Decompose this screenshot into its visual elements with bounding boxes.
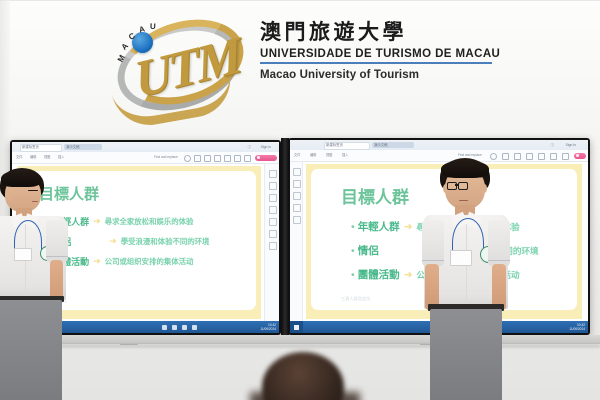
right-save-icon[interactable] xyxy=(562,153,569,160)
left-bullet-arrow-2: ➜ xyxy=(109,236,117,247)
right-slide-footer: 三頁人群及定位 xyxy=(341,296,370,302)
left-menu-file[interactable]: 文件 xyxy=(16,155,22,160)
right-menu-edit[interactable]: 编辑 xyxy=(310,153,316,158)
left-menu-view[interactable]: 视图 xyxy=(44,155,50,160)
right-bullet-arrow-3: ➜ xyxy=(404,269,413,281)
wall-seam xyxy=(0,0,600,1)
left-rail-shape-icon[interactable] xyxy=(269,194,277,202)
logo-arc-text: M A C A U xyxy=(114,14,202,70)
left-menu-insert[interactable]: 插入 xyxy=(58,155,64,160)
right-tab-2-label: 演示文稿 xyxy=(374,142,388,148)
presenter-right-trousers xyxy=(430,309,502,400)
presenter-left-fringe xyxy=(1,170,41,187)
presenter-left-sleeve-stripe xyxy=(46,256,68,257)
right-rail-text-icon[interactable] xyxy=(293,180,301,188)
right-tab-1-label: 新建标签页 xyxy=(326,142,343,148)
presenter-left-ear xyxy=(6,191,12,199)
left-rail-table-icon[interactable] xyxy=(269,218,277,226)
right-menu-view[interactable]: 视图 xyxy=(326,153,332,158)
right-slide-title: 目標人群 xyxy=(341,183,409,208)
left-bullet-arrow-1: ➜ xyxy=(93,216,101,227)
left-pen-icon[interactable] xyxy=(234,155,241,162)
left-bullet-desc-2: 學受浪漫和体验不同的环境 xyxy=(121,236,210,247)
presenter-left-brow xyxy=(28,190,38,191)
right-sign-in-label[interactable]: Sign in xyxy=(566,142,576,148)
right-rail-image-icon[interactable] xyxy=(293,204,301,212)
university-name-pt: UNIVERSIDADE DE TURISMO DE MACAU xyxy=(260,48,496,60)
university-name-en: Macao University of Tourism xyxy=(260,69,496,81)
branding-text-block: 澳門旅遊大學 UNIVERSIDADE DE TURISMO DE MACAU … xyxy=(260,20,496,81)
presenter-left-badge xyxy=(14,248,32,261)
right-share-button[interactable] xyxy=(574,153,586,160)
left-tray-network-icon[interactable] xyxy=(162,325,167,330)
right-menu-insert[interactable]: 插入 xyxy=(342,153,348,158)
university-name-zh: 澳門旅遊大學 xyxy=(260,20,496,45)
left-bullet-desc-3: 公司或组织安排的集体活动 xyxy=(105,256,194,267)
presenter-right-sleeve-stripe-l xyxy=(422,260,444,261)
right-rail-shape-icon[interactable] xyxy=(293,192,301,200)
right-bullet-term-1: 年輕人群 xyxy=(358,219,400,234)
right-bullet-term-3: 團體活動 xyxy=(358,267,400,282)
presenter-right-lens-left xyxy=(447,182,457,190)
left-clock-date: 11/06/2024 xyxy=(260,327,276,332)
right-present-icon[interactable] xyxy=(538,153,545,160)
left-rail-image-icon[interactable] xyxy=(269,206,277,214)
left-tray-volume-icon[interactable] xyxy=(172,325,177,330)
presenter-right xyxy=(416,158,528,400)
presenter-right-badge xyxy=(450,250,472,266)
left-rail-chart-icon[interactable] xyxy=(269,230,277,238)
right-bullet-arrow-1: ➜ xyxy=(404,221,413,233)
left-sign-in-label[interactable]: Sign in xyxy=(261,144,271,150)
right-bullet-term-2: 情侶 xyxy=(358,243,379,258)
presenter-right-glasses xyxy=(447,182,485,190)
left-find-replace-label[interactable]: Find and replace xyxy=(154,155,178,160)
presenter-right-fringe xyxy=(441,160,489,178)
left-rail-select-icon[interactable] xyxy=(269,170,277,178)
right-pen-icon[interactable] xyxy=(550,153,557,160)
left-comment-icon[interactable] xyxy=(214,155,221,162)
left-browser-toolbar[interactable]: 文件 编辑 视图 插入 Find and replace xyxy=(12,152,279,164)
left-redo-icon[interactable] xyxy=(204,155,211,162)
presenter-right-sleeve-stripe-r xyxy=(488,260,510,261)
right-info-icon[interactable]: ⓘ xyxy=(551,142,554,148)
left-bullet-arrow-3: ➜ xyxy=(93,256,101,267)
left-undo-icon[interactable] xyxy=(194,155,201,162)
classroom-scene: UTM M A C A U 澳門旅遊大學 UNIVERSIDADE DE TUR… xyxy=(0,0,600,400)
presenter-left xyxy=(0,168,76,400)
presenter-left-trousers xyxy=(0,300,62,400)
left-tab-1-label: 新建标签页 xyxy=(22,144,39,150)
left-info-icon[interactable]: ⓘ xyxy=(248,144,251,150)
right-bullet-dot-2: • xyxy=(351,245,355,257)
right-rail-select-icon[interactable] xyxy=(293,168,301,176)
right-taskbar-clock[interactable]: 10:42 11/06/2024 xyxy=(569,323,585,332)
left-save-icon[interactable] xyxy=(244,155,251,162)
left-bullet-desc-1: 尋求全家放松和娛乐的体验 xyxy=(105,216,194,227)
left-menu-edit[interactable]: 编辑 xyxy=(30,155,36,160)
university-branding: UTM M A C A U 澳門旅遊大學 UNIVERSIDADE DE TUR… xyxy=(108,6,488,118)
left-search-icon[interactable] xyxy=(184,155,191,162)
display-bezel-gap xyxy=(281,138,289,335)
left-tab-2-label: 演示文稿 xyxy=(66,144,80,150)
left-tray-battery-icon[interactable] xyxy=(182,325,187,330)
right-bullet-dot-1: • xyxy=(351,221,355,233)
left-rail-more-icon[interactable] xyxy=(269,242,277,250)
left-share-button[interactable] xyxy=(255,155,277,162)
left-present-icon[interactable] xyxy=(224,155,231,162)
right-clock-date: 11/06/2024 xyxy=(569,327,585,332)
right-start-button[interactable] xyxy=(290,321,303,333)
left-taskbar-clock[interactable]: 10:42 11/06/2024 xyxy=(260,323,276,332)
right-bullet-dot-3: • xyxy=(351,269,355,281)
branding-divider xyxy=(260,62,492,64)
left-rail-text-icon[interactable] xyxy=(269,182,277,190)
right-rail-table-icon[interactable] xyxy=(293,216,301,224)
presenter-right-lens-right xyxy=(458,182,468,190)
left-tool-rail[interactable] xyxy=(264,164,279,321)
utm-macau-logo: UTM M A C A U xyxy=(108,8,248,120)
left-tray-ime-icon[interactable] xyxy=(192,325,197,330)
right-menu-file[interactable]: 文件 xyxy=(294,153,300,158)
right-tool-rail[interactable] xyxy=(290,162,303,321)
